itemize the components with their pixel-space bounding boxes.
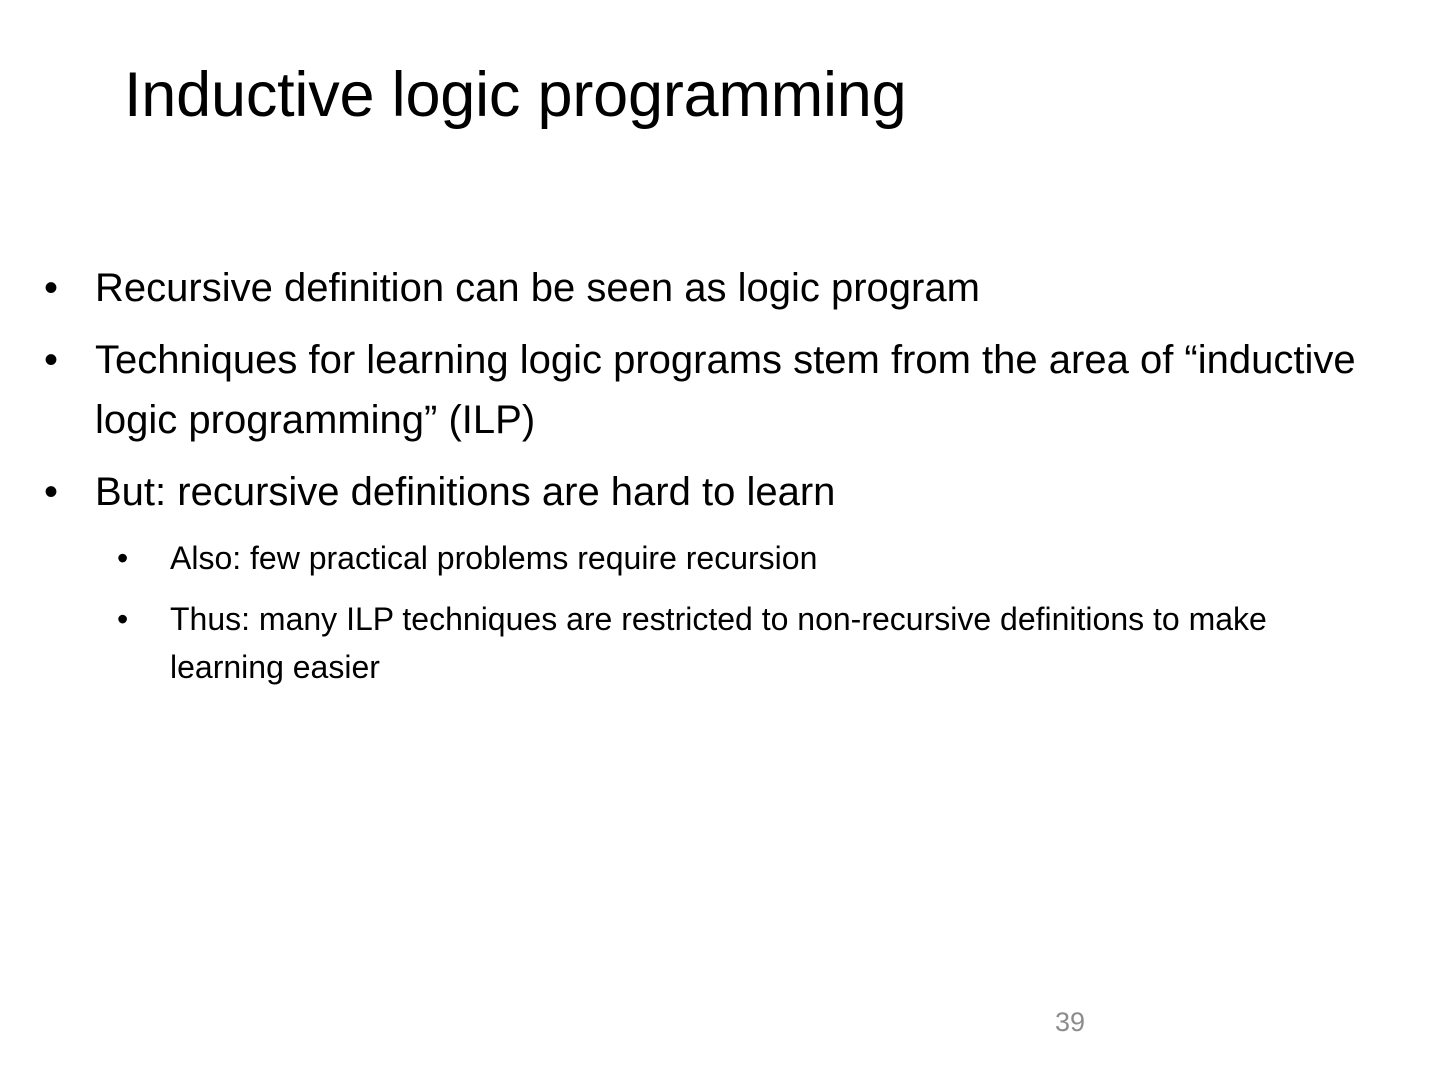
sub-bullet-marker-icon: •: [117, 534, 135, 583]
bullet-list-level-1: • Recursive definition can be seen as lo…: [0, 258, 1440, 692]
bullet-text: But: recursive definitions are hard to l…: [95, 462, 1370, 522]
list-item: • Techniques for learning logic programs…: [0, 330, 1440, 450]
sub-list-item: • Thus: many ILP techniques are restrict…: [95, 595, 1370, 692]
list-item: • Recursive definition can be seen as lo…: [0, 258, 1440, 318]
bullet-text: Recursive definition can be seen as logi…: [95, 258, 1370, 318]
bullet-marker-icon: •: [44, 330, 64, 390]
sub-list-item: • Also: few practical problems require r…: [95, 534, 1370, 583]
sub-bullet-text: Thus: many ILP techniques are restricted…: [170, 595, 1370, 692]
slide: Inductive logic programming • Recursive …: [0, 0, 1440, 1080]
bullet-marker-icon: •: [44, 462, 64, 522]
bullet-list-level-2: • Also: few practical problems require r…: [95, 534, 1370, 692]
list-item: • But: recursive definitions are hard to…: [0, 462, 1440, 692]
sub-bullet-text: Also: few practical problems require rec…: [170, 534, 1370, 583]
bullet-text: Techniques for learning logic programs s…: [95, 330, 1370, 450]
page-number: 39: [1040, 1006, 1100, 1038]
page-title: Inductive logic programming: [124, 60, 1354, 131]
bullet-marker-icon: •: [44, 258, 64, 318]
slide-body: • Recursive definition can be seen as lo…: [0, 258, 1440, 704]
sub-bullet-marker-icon: •: [117, 595, 135, 644]
